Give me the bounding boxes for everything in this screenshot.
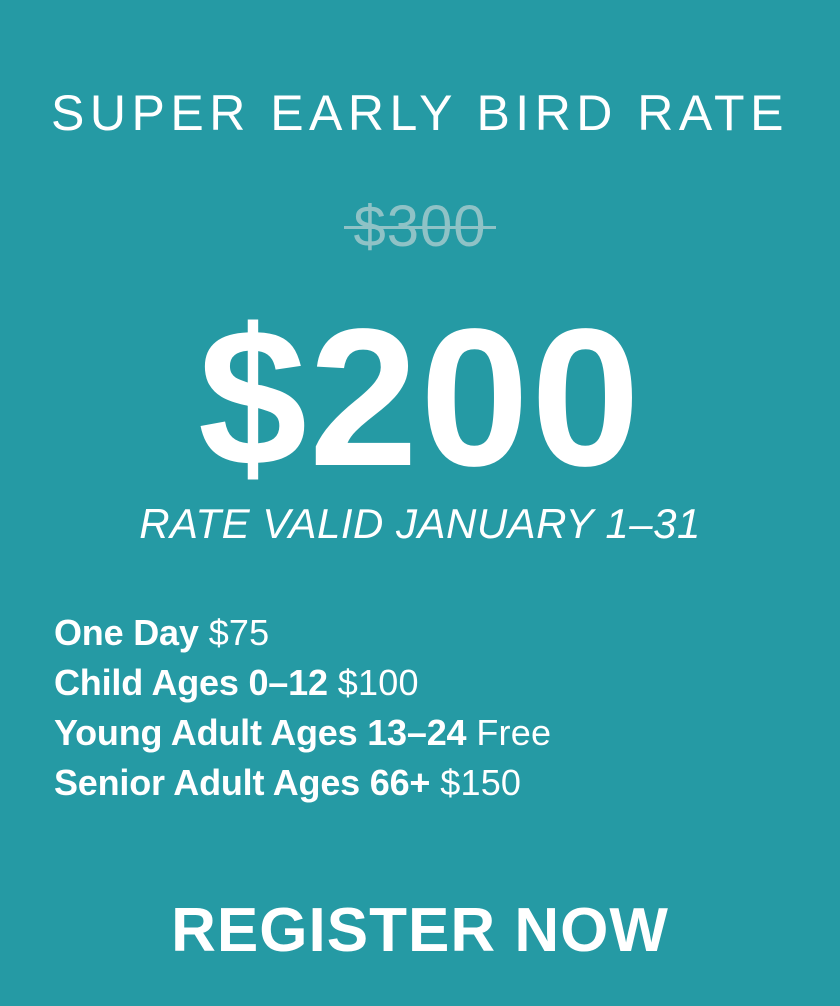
rate-row: Senior Adult Ages 66+ $150	[54, 758, 794, 808]
original-price: $300	[353, 198, 486, 256]
validity-note: RATE VALID JANUARY 1–31	[0, 503, 840, 545]
rate-row: Young Adult Ages 13–24 Free	[54, 708, 794, 758]
promo-headline: SUPER EARLY BIRD RATE	[0, 88, 840, 138]
rate-label: Young Adult Ages 13–24	[54, 712, 466, 753]
rate-row: One Day $75	[54, 608, 794, 658]
original-price-row: $300	[0, 198, 840, 256]
rate-row: Child Ages 0–12 $100	[54, 658, 794, 708]
current-price: $200	[0, 300, 840, 496]
rate-value: $75	[209, 612, 270, 653]
rate-value: Free	[476, 712, 551, 753]
strikethrough-line	[344, 226, 495, 229]
promo-card: SUPER EARLY BIRD RATE $300 $200 RATE VAL…	[0, 0, 840, 1006]
rate-list: One Day $75 Child Ages 0–12 $100 Young A…	[54, 608, 794, 808]
rate-value: $150	[440, 762, 521, 803]
rate-label: Child Ages 0–12	[54, 662, 328, 703]
register-now-button[interactable]: REGISTER NOW	[0, 900, 840, 962]
rate-value: $100	[338, 662, 419, 703]
rate-label: One Day	[54, 612, 199, 653]
rate-label: Senior Adult Ages 66+	[54, 762, 430, 803]
